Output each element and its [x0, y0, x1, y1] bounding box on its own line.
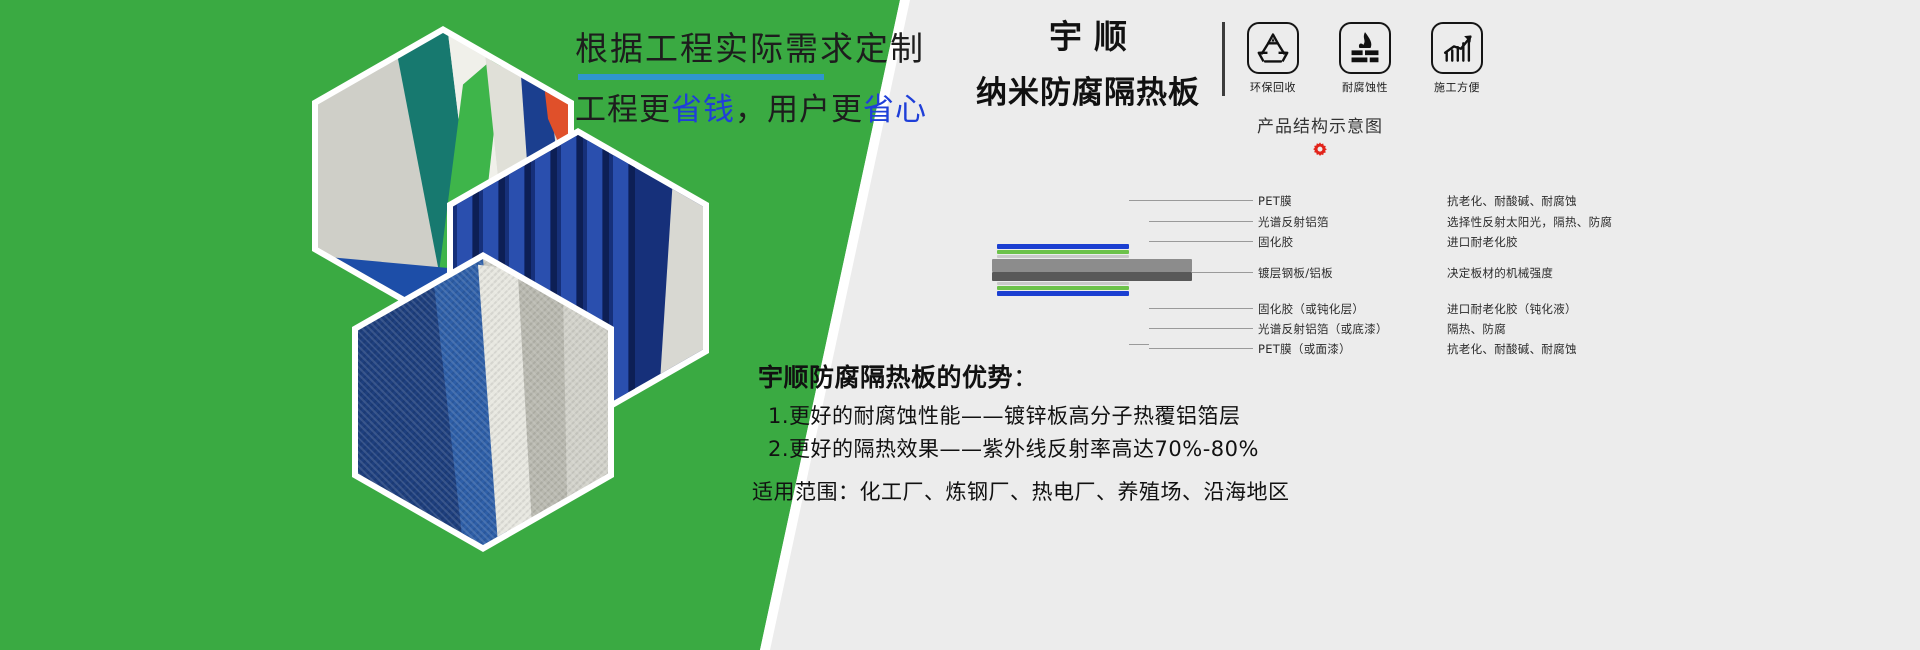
- headline-secondary-highlight1: 省钱: [671, 92, 735, 128]
- brand-subtitle: 纳米防腐隔热板: [958, 67, 1218, 112]
- leader-line-6: [1149, 328, 1253, 329]
- layer-label-7: PET膜（或面漆）: [1258, 341, 1351, 357]
- layer-desc-1: 抗老化、耐酸碱、耐腐蚀: [1447, 193, 1577, 209]
- feature-icon-row: 环保回收 耐腐蚀性: [1242, 22, 1488, 95]
- advantage-item-2: 2.更好的隔热效果——紫外线反射率高达70%-80%: [768, 433, 1259, 463]
- leader-brace-top: [1129, 200, 1149, 259]
- layer-glue-bottom: [997, 282, 1129, 285]
- layer-pet-bottom: [997, 291, 1129, 296]
- product-banner: 根据工程实际需求定制 工程更省钱，用户更省心 宇顺 纳米防腐隔热板: [0, 0, 1920, 650]
- layer-desc-2: 选择性反射太阳光，隔热、防腐: [1447, 214, 1612, 230]
- layer-label-2: 光谱反射铝箔: [1258, 214, 1329, 230]
- application-scope: 适用范围：化工厂、炼钢厂、热电厂、养殖场、沿海地区: [752, 476, 1290, 506]
- advantages-title-text: 宇顺防腐隔热板的优势: [758, 363, 1013, 392]
- layer-steel-core: [992, 259, 1192, 272]
- leader-brace-bottom: [1129, 286, 1149, 345]
- headline-secondary: 工程更省钱，用户更省心: [575, 84, 875, 129]
- brand-block: 宇顺 纳米防腐隔热板: [958, 10, 1218, 112]
- layer-label-4: 镀层钢板/铝板: [1258, 265, 1333, 281]
- feature-recycle-label: 环保回收: [1242, 79, 1304, 95]
- advantage-item-1: 1.更好的耐腐蚀性能——镀锌板高分子热覆铝箔层: [768, 400, 1241, 430]
- layer-foil-top: [997, 250, 1129, 254]
- feature-installation: 施工方便: [1426, 22, 1488, 95]
- brand-name: 宇顺: [958, 10, 1218, 58]
- layer-desc-5: 进口耐老化胶（钝化液）: [1447, 301, 1577, 317]
- headline-underline-rule: [578, 74, 824, 80]
- layer-glue-top: [997, 255, 1129, 258]
- feature-installation-label: 施工方便: [1426, 79, 1488, 95]
- fire-brick-icon: [1339, 22, 1391, 74]
- leader-line-4: [1192, 272, 1253, 273]
- leader-line-7: [1149, 348, 1253, 349]
- layer-pet-top: [997, 244, 1129, 249]
- leader-line-1: [1149, 200, 1253, 201]
- headline-primary: 根据工程实际需求定制: [575, 22, 875, 70]
- headline-secondary-highlight2: 省心: [863, 92, 927, 128]
- layer-steel-core-shadow: [992, 272, 1192, 281]
- gear-icon: [1311, 142, 1329, 160]
- feature-corrosion-label: 耐腐蚀性: [1334, 79, 1396, 95]
- feature-corrosion: 耐腐蚀性: [1334, 22, 1396, 95]
- layer-desc-7: 抗老化、耐酸碱、耐腐蚀: [1447, 341, 1577, 357]
- headline-secondary-part2: ，用户更: [735, 92, 863, 128]
- feature-recycle: 环保回收: [1242, 22, 1304, 95]
- headline-secondary-part1: 工程更: [575, 92, 671, 128]
- advantages-title: 宇顺防腐隔热板的优势：: [758, 358, 1039, 394]
- layer-foil-bottom: [997, 286, 1129, 290]
- layer-label-3: 固化胶: [1258, 234, 1293, 250]
- layer-desc-6: 隔热、防腐: [1447, 321, 1506, 337]
- leader-line-5: [1149, 308, 1253, 309]
- recycle-icon: [1247, 22, 1299, 74]
- layer-label-5: 固化胶（或钝化层）: [1258, 301, 1364, 317]
- diagram-title: 产品结构示意图: [1160, 112, 1480, 137]
- leader-line-3: [1149, 241, 1253, 242]
- layer-desc-3: 进口耐老化胶: [1447, 234, 1518, 250]
- layer-desc-4: 决定板材的机械强度: [1447, 265, 1553, 281]
- brand-vertical-divider: [1222, 22, 1225, 96]
- advantages-title-colon: ：: [1013, 363, 1039, 392]
- layer-label-6: 光谱反射铝箔（或底漆）: [1258, 321, 1388, 337]
- growth-chart-icon: [1431, 22, 1483, 74]
- leader-line-2: [1149, 221, 1253, 222]
- layer-label-1: PET膜: [1258, 193, 1292, 209]
